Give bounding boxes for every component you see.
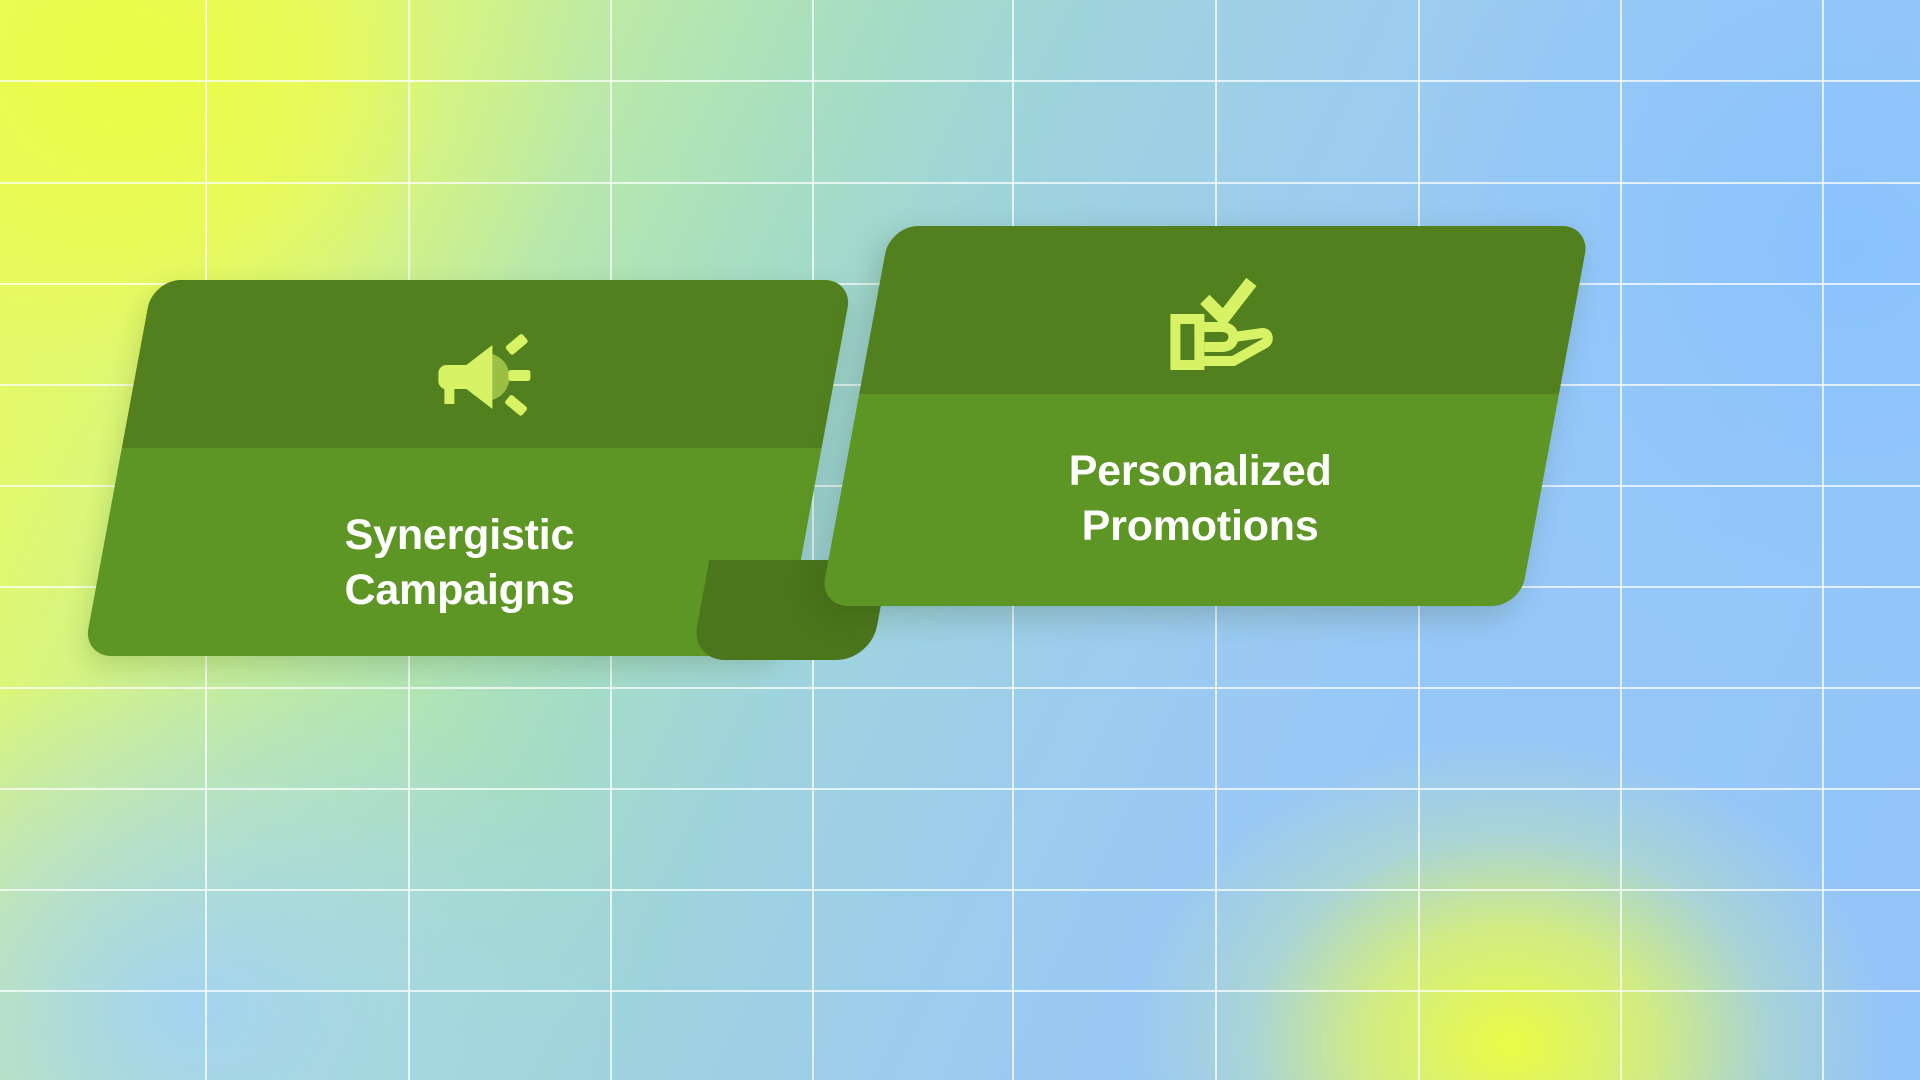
- card-header-left: [122, 280, 853, 448]
- card-personalized-promotions[interactable]: Personalized Promotions: [820, 226, 1590, 606]
- card-body-right: Personalized Promotions: [820, 394, 1559, 606]
- card-title-left: Synergistic Campaigns: [326, 508, 574, 617]
- card-header-right: [859, 226, 1590, 394]
- megaphone-icon: [436, 332, 532, 427]
- hand-check-icon: [1169, 277, 1273, 378]
- card-title-right: Personalized Promotions: [1048, 444, 1331, 553]
- card-group: Synergistic Campaigns Personalized Promo…: [0, 0, 1920, 1080]
